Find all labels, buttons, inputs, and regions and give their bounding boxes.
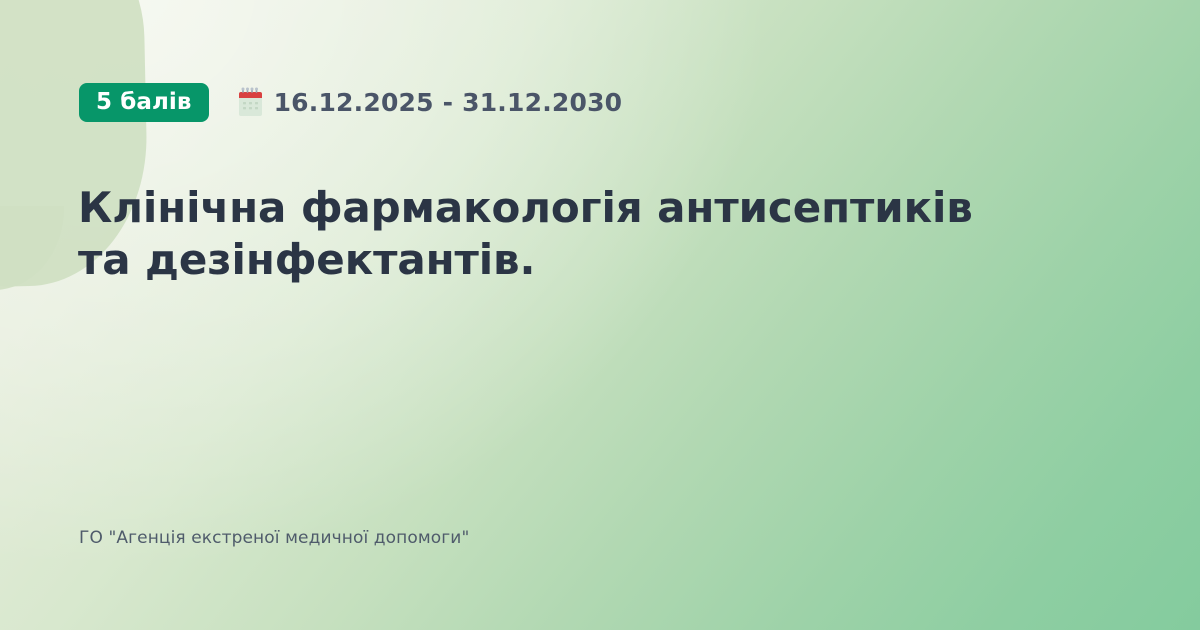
organizer-name: ГО "Агенція екстреної медичної допомоги" (79, 528, 469, 548)
page-title-line-1: Клінічна фармакологія антисептиків (78, 183, 973, 232)
calendar-icon (237, 87, 264, 117)
points-badge: 5 балів (79, 83, 209, 122)
page-title-line-2: та дезінфектантів. (78, 235, 535, 284)
card-content: 5 балів (0, 0, 1200, 630)
meta-row: 5 балів (79, 81, 622, 123)
page-title: Клінічна фармакологія антисептиків та де… (78, 182, 1118, 286)
date-range-group: 16.12.2025 - 31.12.2030 (237, 87, 623, 117)
course-card: 5 балів (0, 0, 1200, 630)
date-range-text: 16.12.2025 - 31.12.2030 (274, 88, 623, 117)
